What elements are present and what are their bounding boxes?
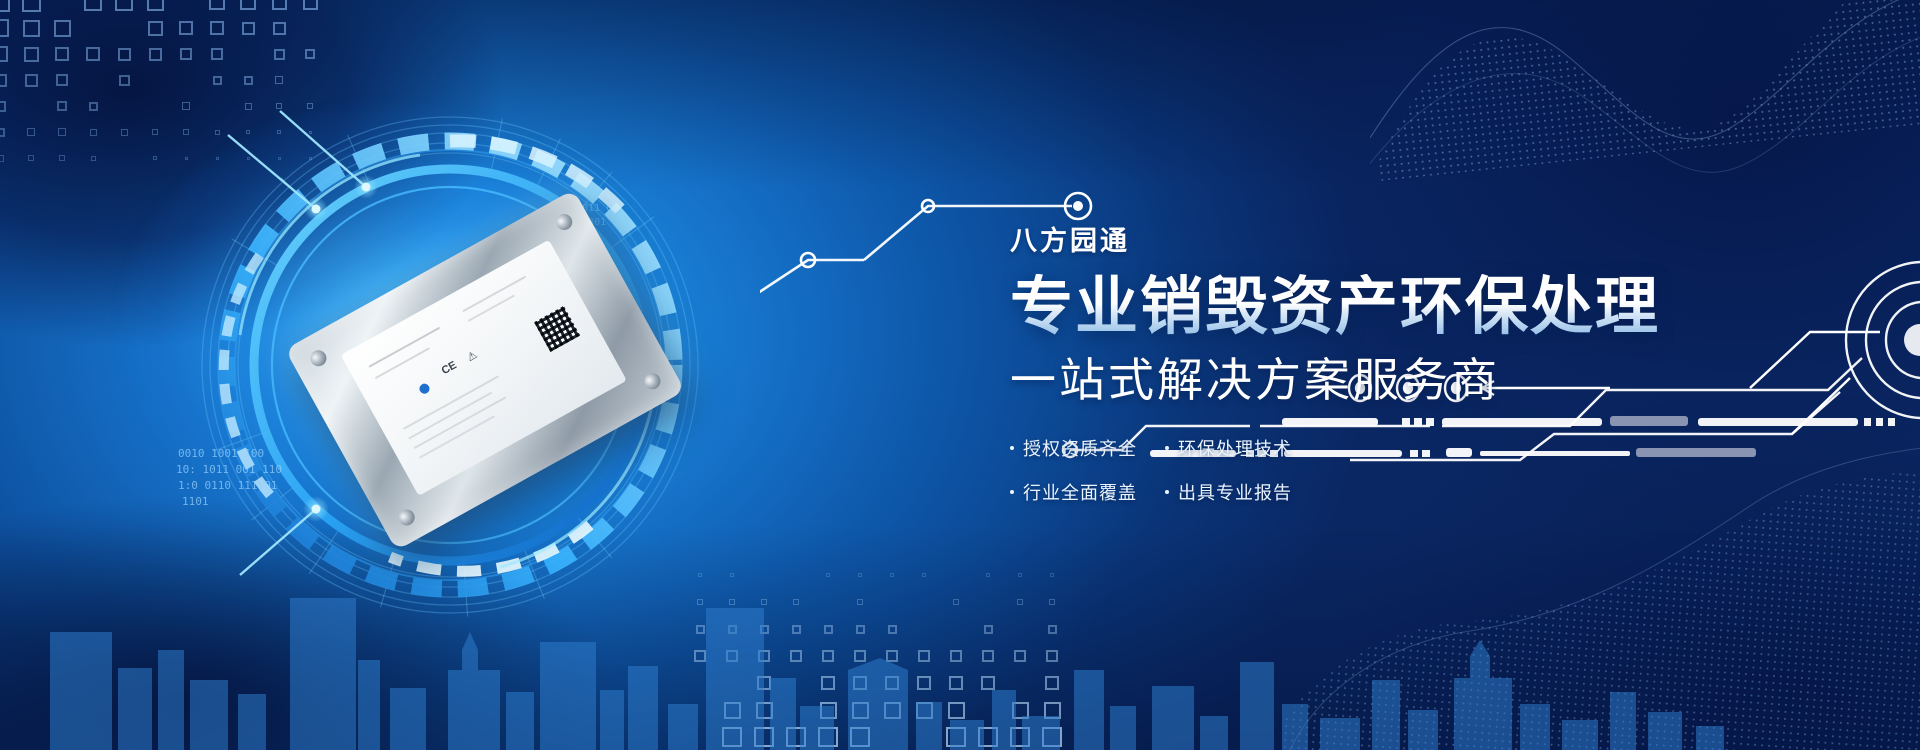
grid-square	[180, 48, 192, 60]
grid-square	[211, 48, 223, 60]
grid-square	[0, 74, 7, 87]
grid-square	[305, 49, 315, 59]
grid-square	[274, 49, 285, 60]
grid-square	[90, 129, 97, 136]
grid-square	[917, 676, 931, 690]
grid-square	[56, 74, 68, 86]
tech-ring-assembly: 0010 1001 100 10: 1011 001 110 1:0 0110 …	[120, 105, 780, 625]
grid-square	[303, 0, 318, 10]
grid-square	[25, 74, 38, 87]
grid-square	[984, 625, 993, 634]
grid-square	[850, 727, 870, 747]
grid-square	[148, 21, 163, 36]
grid-square	[55, 47, 69, 61]
grid-square	[790, 650, 802, 662]
grid-square	[1045, 676, 1059, 690]
grid-square	[115, 0, 133, 11]
grid-square	[1018, 573, 1022, 577]
feature-label: 环保处理技术	[1178, 435, 1292, 461]
svg-text:10: 1011 001 110: 10: 1011 001 110	[176, 463, 282, 476]
feature-list: 授权资质齐全 环保处理技术 行业全面覆盖 出具专业报告	[1010, 435, 1730, 505]
grid-square	[1042, 727, 1062, 747]
grid-square	[54, 20, 71, 37]
grid-square	[27, 128, 35, 136]
promo-banner: 0010 1001 100 10: 1011 001 110 1:0 0110 …	[0, 0, 1920, 750]
feature-item: 授权资质齐全	[1010, 435, 1165, 461]
grid-square	[986, 573, 990, 577]
feature-item: 行业全面覆盖	[1010, 479, 1165, 505]
feature-label: 出具专业报告	[1178, 479, 1292, 505]
feature-item: 出具专业报告	[1165, 479, 1330, 505]
grid-square	[119, 75, 130, 86]
grid-square	[0, 46, 8, 62]
hdd-barcode	[534, 306, 580, 352]
feature-label: 行业全面覆盖	[1023, 479, 1137, 505]
grid-square	[792, 625, 801, 634]
grid-square	[856, 625, 865, 634]
grid-square	[953, 599, 959, 605]
grid-square	[950, 650, 962, 662]
grid-square	[760, 625, 769, 634]
grid-square	[858, 573, 862, 577]
svg-text:1:0 0110 111 01: 1:0 0110 111 01	[178, 479, 277, 492]
grid-square	[23, 20, 40, 37]
grid-square	[824, 625, 833, 634]
grid-square	[888, 625, 897, 634]
grid-square	[86, 47, 100, 61]
grid-square	[89, 102, 98, 111]
grid-square	[948, 702, 965, 719]
grid-square	[58, 128, 66, 136]
grid-square	[210, 21, 224, 35]
grid-square	[273, 22, 286, 35]
grid-square	[1048, 625, 1057, 634]
grid-square	[179, 21, 193, 35]
grid-square	[0, 128, 5, 137]
bullet-dot-icon	[1165, 446, 1169, 450]
grid-square	[886, 650, 898, 662]
grid-square	[786, 727, 806, 747]
grid-square	[722, 727, 742, 747]
grid-square	[118, 48, 131, 61]
grid-square	[758, 650, 770, 662]
grid-square	[84, 0, 102, 11]
grid-square	[209, 0, 225, 10]
grid-square	[918, 650, 930, 662]
grid-square	[24, 47, 39, 62]
grid-square	[1010, 727, 1030, 747]
grid-square	[147, 0, 164, 11]
feature-item: 环保处理技术	[1165, 435, 1330, 461]
bullet-dot-icon	[1010, 490, 1014, 494]
feature-label: 授权资质齐全	[1023, 435, 1137, 461]
grid-square	[822, 650, 834, 662]
grid-square	[982, 650, 994, 662]
grid-square	[756, 702, 773, 719]
grid-square	[59, 155, 65, 161]
grid-square	[857, 599, 863, 605]
grid-square	[854, 650, 866, 662]
grid-square	[240, 0, 256, 10]
grid-square	[91, 156, 96, 161]
grid-square	[981, 676, 995, 690]
grid-square	[1049, 599, 1055, 605]
grid-square	[826, 573, 830, 577]
grid-square	[57, 101, 67, 111]
grid-square	[1017, 599, 1023, 605]
grid-square	[1012, 702, 1029, 719]
grid-square	[916, 702, 933, 719]
grid-square	[0, 0, 10, 12]
grid-square	[726, 650, 738, 662]
grid-square	[820, 702, 837, 719]
banner-copy: 八方园通 专业销毁资产环保处理 一站式解决方案服务商 授权资质齐全 环保处理技术…	[1010, 228, 1730, 505]
bullet-dot-icon	[1010, 446, 1014, 450]
grid-square	[1050, 573, 1054, 577]
grid-square	[242, 22, 255, 35]
grid-square	[275, 76, 283, 84]
grid-square	[946, 727, 966, 747]
subheadline: 一站式解决方案服务商	[1010, 355, 1730, 406]
grid-square	[696, 625, 705, 634]
grid-square	[694, 650, 706, 662]
brand-name: 八方园通	[1010, 228, 1730, 255]
bullet-dot-icon	[1165, 490, 1169, 494]
svg-text:1101: 1101	[182, 495, 209, 508]
grid-square	[818, 727, 838, 747]
grid-square	[0, 155, 4, 162]
grid-square	[852, 702, 869, 719]
grid-square	[1044, 702, 1061, 719]
grid-square	[0, 19, 9, 37]
grid-square	[0, 101, 6, 112]
grid-square	[890, 573, 894, 577]
grid-square	[885, 676, 899, 690]
grid-square	[244, 76, 253, 85]
grid-square	[149, 48, 162, 61]
grid-square	[853, 676, 867, 690]
headline: 专业销毁资产环保处理	[1010, 274, 1730, 341]
grid-square	[793, 599, 799, 605]
grid-square	[821, 676, 835, 690]
grid-square	[754, 727, 774, 747]
grid-square	[978, 727, 998, 747]
grid-square	[724, 702, 741, 719]
grid-square	[22, 0, 41, 12]
grid-square	[1046, 650, 1058, 662]
grid-square	[884, 702, 901, 719]
grid-square	[1014, 650, 1026, 662]
grid-square	[28, 155, 34, 161]
grid-square	[728, 625, 737, 634]
grid-square	[213, 76, 222, 85]
grid-square	[922, 573, 926, 577]
grid-square	[949, 676, 963, 690]
grid-square	[757, 676, 771, 690]
grid-square	[272, 0, 287, 10]
svg-text:0010 1001 100: 0010 1001 100	[178, 447, 264, 460]
